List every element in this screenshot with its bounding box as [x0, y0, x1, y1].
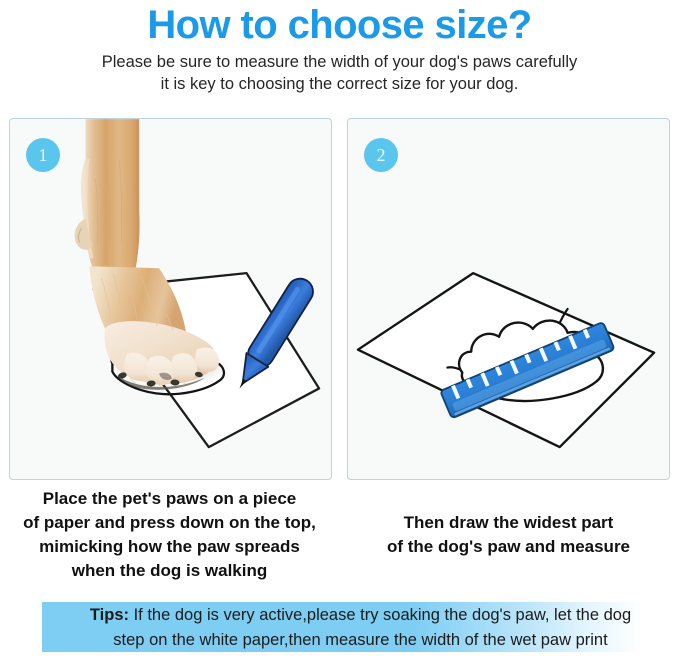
caption-step-2: Then draw the widest part of the dog's p…: [339, 487, 678, 587]
tips-label: Tips:: [90, 606, 129, 624]
caption-1-line-4: when the dog is walking: [0, 559, 339, 583]
captions-row: Place the pet's paws on a piece of paper…: [0, 487, 679, 587]
paw-pressing-illustration: [10, 119, 331, 479]
header: How to choose size? Please be sure to me…: [0, 0, 679, 95]
panels-row: 1: [9, 118, 670, 480]
subtitle: Please be sure to measure the width of y…: [0, 51, 679, 95]
step-badge-1: 1: [26, 138, 60, 172]
subtitle-line-2: it is key to choosing the correct size f…: [0, 73, 679, 95]
tips-line-1-text: If the dog is very active,please try soa…: [129, 606, 631, 624]
ruler-measuring-illustration: [348, 119, 669, 479]
caption-1-line-2: of paper and press down on the top,: [0, 511, 339, 535]
subtitle-line-1: Please be sure to measure the width of y…: [0, 51, 679, 73]
tips-line-2: step on the white paper,then measure the…: [42, 628, 679, 653]
step-panel-1: 1: [9, 118, 332, 480]
caption-1-line-3: mimicking how the paw spreads: [0, 535, 339, 559]
tips-banner: Tips: If the dog is very active,please t…: [0, 602, 679, 654]
tips-text: Tips: If the dog is very active,please t…: [42, 602, 679, 652]
step-badge-2: 2: [364, 138, 398, 172]
caption-step-1: Place the pet's paws on a piece of paper…: [0, 487, 339, 587]
step-panel-2: 2: [347, 118, 670, 480]
caption-1-line-1: Place the pet's paws on a piece: [0, 487, 339, 511]
caption-2-line-2: of the dog's paw and measure: [339, 535, 678, 559]
tips-line-1: Tips: If the dog is very active,please t…: [42, 603, 679, 628]
caption-2-line-1: Then draw the widest part: [339, 511, 678, 535]
page-title: How to choose size?: [0, 2, 679, 48]
